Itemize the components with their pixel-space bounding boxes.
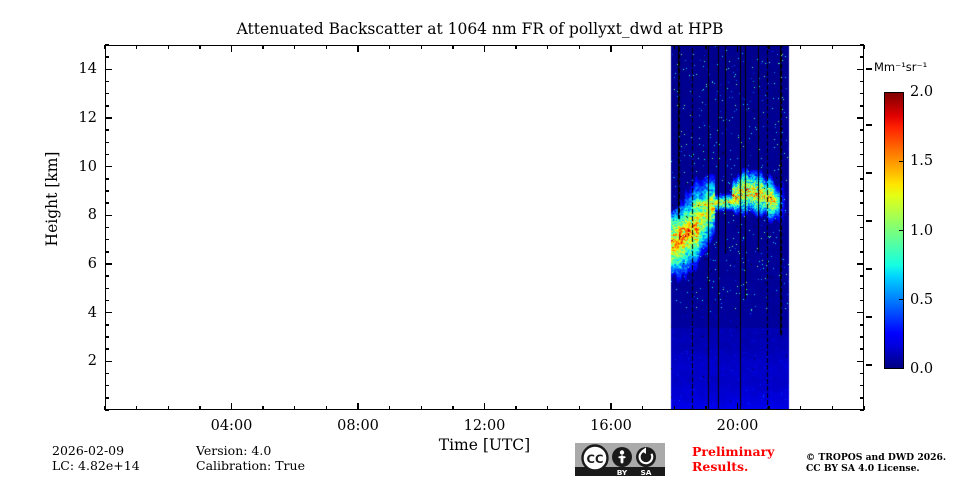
- x-tick: [642, 45, 643, 49]
- footer-lidar-constant: LC: 4.82e+14: [52, 458, 140, 473]
- x-tick-label: 20:00: [717, 418, 759, 434]
- x-tick: [199, 45, 200, 49]
- y-tick: [105, 312, 112, 313]
- x-tick: [832, 406, 833, 410]
- y-axis-label: Height [km]: [43, 109, 61, 289]
- x-tick: [294, 45, 295, 49]
- y-tick: [857, 69, 864, 70]
- y-tick: [860, 105, 864, 106]
- x-tick: [515, 45, 516, 49]
- y-tick: [857, 361, 864, 362]
- x-tick: [579, 45, 580, 49]
- x-tick: [452, 406, 453, 410]
- y-tick: [860, 81, 864, 82]
- x-tick: [800, 45, 801, 49]
- x-tick: [421, 406, 422, 410]
- y-tick: [105, 336, 109, 337]
- y-tick: [105, 105, 109, 106]
- copyright-line-1: © TROPOS and DWD 2026.: [806, 452, 946, 463]
- y-tick: [860, 227, 864, 228]
- y-tick-label: 2: [53, 353, 97, 369]
- x-tick: [231, 403, 232, 410]
- x-tick: [484, 403, 485, 410]
- y-tick: [860, 373, 864, 374]
- x-tick: [389, 406, 390, 410]
- y-tick: [105, 288, 109, 289]
- y-tick: [860, 251, 864, 252]
- y-tick: [105, 263, 112, 264]
- cc-by-text: BY: [617, 468, 628, 476]
- x-tick: [168, 406, 169, 410]
- y-tick: [860, 348, 864, 349]
- backscatter-heatmap: [106, 46, 864, 410]
- y-tick: [105, 239, 109, 240]
- x-tick: [737, 45, 738, 52]
- page-title: Attenuated Backscatter at 1064 nm FR of …: [0, 20, 960, 38]
- y-tick: [857, 166, 864, 167]
- colorbar-tick-label: 0.0: [910, 361, 933, 377]
- copyright-line-2: CC BY SA 4.0 License.: [806, 463, 946, 474]
- x-tick: [294, 406, 295, 410]
- x-tick: [768, 406, 769, 410]
- x-tick: [674, 406, 675, 410]
- footer-date: 2026-02-09: [52, 443, 140, 458]
- y-tick: [105, 275, 109, 276]
- y-tick: [105, 324, 109, 325]
- y-tick: [105, 373, 109, 374]
- y-tick: [105, 251, 109, 252]
- y-tick: [105, 300, 109, 301]
- x-tick: [262, 45, 263, 49]
- y-tick: [860, 385, 864, 386]
- outer-spine-tick: [866, 68, 872, 70]
- y-tick: [860, 178, 864, 179]
- y-tick: [860, 336, 864, 337]
- x-tick: [642, 406, 643, 410]
- x-tick: [357, 45, 358, 52]
- footer-version: Version: 4.0: [196, 443, 305, 458]
- x-tick: [199, 406, 200, 410]
- y-tick: [105, 117, 112, 118]
- colorbar-tick-label: 1.5: [910, 153, 933, 169]
- x-tick: [484, 45, 485, 52]
- x-tick: [705, 406, 706, 410]
- x-tick: [705, 45, 706, 49]
- x-tick: [674, 45, 675, 49]
- figure-canvas: Attenuated Backscatter at 1064 nm FR of …: [0, 0, 960, 480]
- x-tick: [136, 406, 137, 410]
- footer-version-block: Version: 4.0 Calibration: True: [196, 443, 305, 473]
- y-tick: [860, 154, 864, 155]
- x-tick-label: 08:00: [337, 418, 379, 434]
- x-tick: [357, 403, 358, 410]
- y-tick: [857, 215, 864, 216]
- x-tick: [547, 45, 548, 49]
- outer-spine-tick: [866, 172, 872, 174]
- colorbar-tick-label: 2.0: [910, 84, 933, 100]
- outer-spine-tick: [866, 364, 872, 366]
- y-tick: [105, 215, 112, 216]
- colorbar-tick-label: 0.5: [910, 292, 933, 308]
- svg-text:CC: CC: [587, 452, 604, 466]
- y-tick: [105, 81, 109, 82]
- x-tick: [168, 45, 169, 49]
- y-tick: [105, 56, 109, 57]
- x-tick: [579, 406, 580, 410]
- y-tick: [105, 93, 109, 94]
- plot-area[interactable]: [105, 45, 864, 410]
- x-tick: [326, 406, 327, 410]
- preliminary-line-2: Results.: [692, 459, 774, 474]
- preliminary-results-note: Preliminary Results.: [692, 444, 774, 474]
- y-tick: [860, 324, 864, 325]
- x-tick: [737, 403, 738, 410]
- y-tick: [860, 239, 864, 240]
- y-tick: [105, 202, 109, 203]
- y-tick: [105, 129, 109, 130]
- y-tick: [105, 227, 109, 228]
- y-tick: [857, 312, 864, 313]
- y-tick: [860, 56, 864, 57]
- x-tick: [136, 45, 137, 49]
- x-tick: [832, 45, 833, 49]
- outer-spine-tick: [866, 268, 872, 270]
- x-tick-label: 12:00: [464, 418, 506, 434]
- y-tick: [860, 202, 864, 203]
- y-tick: [105, 154, 109, 155]
- y-tick: [105, 348, 109, 349]
- footer-date-block: 2026-02-09 LC: 4.82e+14: [52, 443, 140, 473]
- x-tick: [262, 406, 263, 410]
- y-tick: [105, 361, 112, 362]
- x-tick: [610, 403, 611, 410]
- x-tick: [610, 45, 611, 52]
- x-tick: [800, 406, 801, 410]
- y-tick: [105, 178, 109, 179]
- y-tick: [860, 288, 864, 289]
- x-tick: [326, 45, 327, 49]
- y-tick: [105, 190, 109, 191]
- y-tick: [860, 300, 864, 301]
- y-tick: [105, 166, 112, 167]
- y-tick: [860, 129, 864, 130]
- y-tick: [860, 44, 864, 45]
- x-tick: [231, 45, 232, 52]
- colorbar-tick-label: 1.0: [910, 223, 933, 239]
- x-tick: [547, 406, 548, 410]
- y-tick: [860, 275, 864, 276]
- y-tick: [857, 117, 864, 118]
- colorbar-tick: [899, 230, 904, 231]
- x-tick: [768, 45, 769, 49]
- outer-spine-tick: [866, 316, 872, 318]
- copyright-note: © TROPOS and DWD 2026. CC BY SA 4.0 Lice…: [806, 452, 946, 474]
- x-tick: [389, 45, 390, 49]
- colorbar-unit-label: Mm⁻¹sr⁻¹: [874, 60, 927, 74]
- x-tick: [515, 406, 516, 410]
- y-tick-label: 14: [53, 61, 97, 77]
- x-tick: [421, 45, 422, 49]
- y-tick: [105, 409, 109, 410]
- y-tick: [857, 263, 864, 264]
- y-tick-label: 4: [53, 305, 97, 321]
- x-tick-label: 04:00: [211, 418, 253, 434]
- footer-calibration: Calibration: True: [196, 458, 305, 473]
- outer-spine-tick: [866, 124, 872, 126]
- x-tick: [452, 45, 453, 49]
- y-tick: [105, 142, 109, 143]
- y-tick: [105, 397, 109, 398]
- y-tick: [860, 142, 864, 143]
- y-tick: [105, 69, 112, 70]
- preliminary-line-1: Preliminary: [692, 444, 774, 459]
- colorbar-tick: [899, 299, 904, 300]
- cc-sa-text: SA: [640, 468, 651, 476]
- y-tick: [105, 385, 109, 386]
- y-tick: [860, 409, 864, 410]
- y-tick: [860, 397, 864, 398]
- cc-license-badge[interactable]: CC BY SA: [575, 443, 665, 476]
- y-tick: [105, 44, 109, 45]
- y-tick: [860, 93, 864, 94]
- colorbar-tick: [899, 161, 904, 162]
- outer-spine-tick: [866, 220, 872, 222]
- y-tick: [860, 190, 864, 191]
- x-tick-label: 16:00: [590, 418, 632, 434]
